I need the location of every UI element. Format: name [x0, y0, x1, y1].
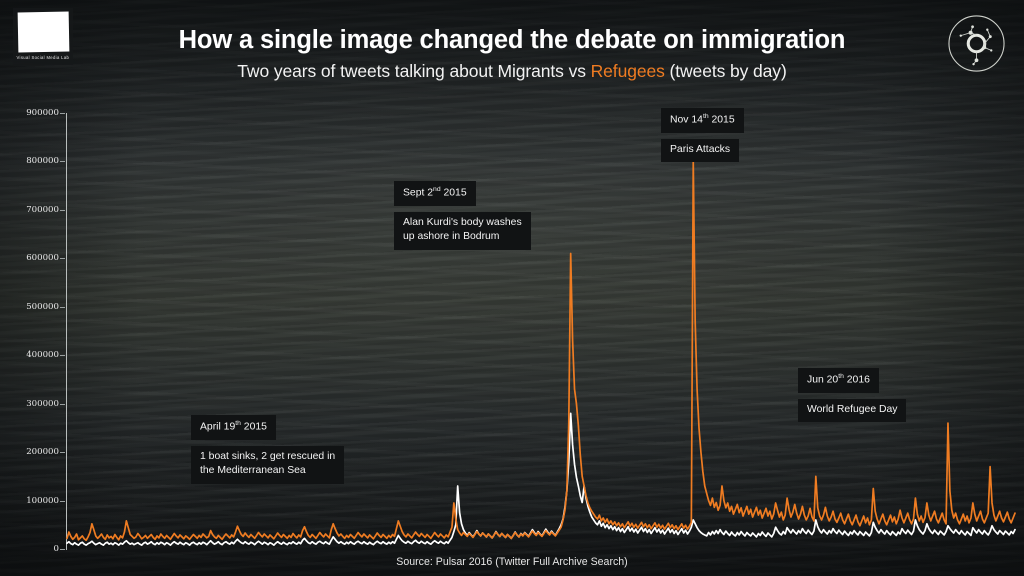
y-axis-tick-mark	[60, 258, 65, 259]
annotation-april-2015-text: 1 boat sinks, 2 get rescued in the Medit…	[191, 446, 344, 484]
y-axis-tick-mark	[60, 161, 65, 162]
y-axis-tick-mark	[60, 501, 65, 502]
annotation-april-2015: April 19th 2015 1 boat sinks, 2 get resc…	[191, 415, 344, 484]
y-axis-tick-mark	[60, 113, 65, 114]
annotation-nov-2015: Nov 14th 2015 Paris Attacks	[661, 108, 744, 162]
y-axis-tick-mark	[60, 210, 65, 211]
annotation-jun-2016-text: World Refugee Day	[798, 399, 906, 422]
source-note: Source: Pulsar 2016 (Twitter Full Archiv…	[0, 556, 1024, 568]
y-axis-tick-mark	[60, 452, 65, 453]
annotation-sept-2015-date: Sept 2nd 2015	[394, 181, 476, 206]
y-axis-tick-mark	[60, 307, 65, 308]
chart-plot-area	[0, 0, 1024, 576]
infographic-canvas: Visual Social Media Lab How a single ima…	[0, 0, 1024, 576]
annotation-jun-2016: Jun 20th 2016 World Refugee Day	[798, 368, 906, 422]
annotation-nov-2015-text: Paris Attacks	[661, 139, 739, 162]
annotation-jun-2016-date: Jun 20th 2016	[798, 368, 879, 393]
y-axis-tick-mark	[60, 355, 65, 356]
y-axis-tick-mark	[60, 404, 65, 405]
annotation-april-2015-date: April 19th 2015	[191, 415, 276, 440]
y-axis-tick-mark	[60, 549, 65, 550]
annotation-sept-2015-text: Alan Kurdi's body washes up ashore in Bo…	[394, 212, 531, 250]
annotation-sept-2015: Sept 2nd 2015 Alan Kurdi's body washes u…	[394, 181, 531, 250]
annotation-nov-2015-date: Nov 14th 2015	[661, 108, 744, 133]
